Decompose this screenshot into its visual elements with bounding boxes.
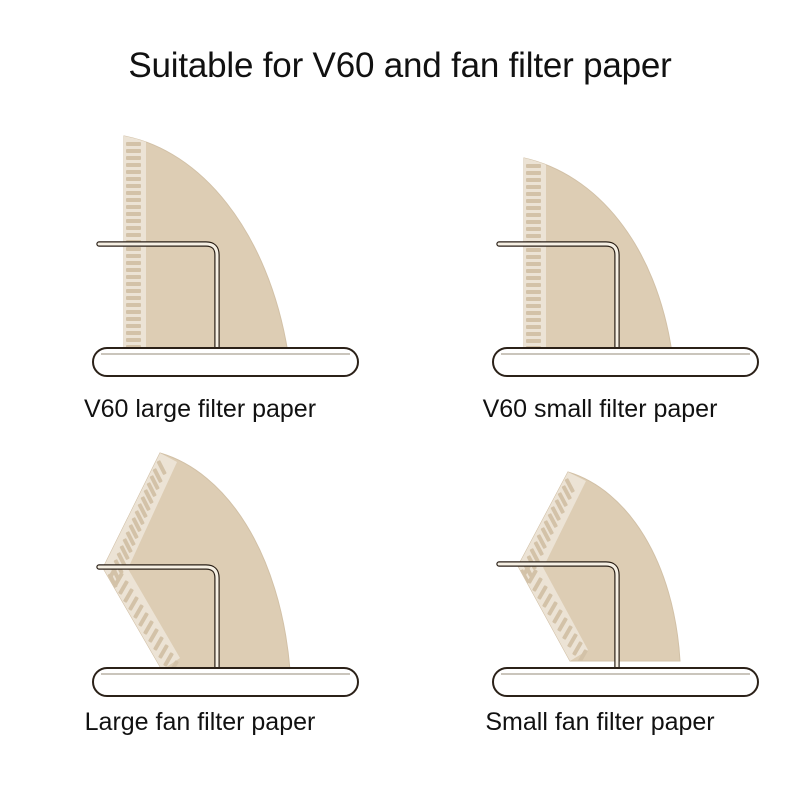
v60-large-illustration (0, 110, 400, 400)
diagram-fan-small: Small fan filter paper (400, 440, 800, 770)
diagram-page: Suitable for V60 and fan filter paper (0, 0, 800, 800)
fan-small-illustration (400, 440, 800, 730)
page-title: Suitable for V60 and fan filter paper (0, 46, 800, 86)
stand-base (93, 668, 358, 696)
fan-large-illustration (0, 440, 400, 730)
diagram-v60-small: V60 small filter paper (400, 110, 800, 440)
diagram-v60-large: V60 large filter paper (0, 110, 400, 440)
caption-fan-large: Large fan filter paper (0, 708, 400, 737)
stand-base (93, 348, 358, 376)
caption-v60-small: V60 small filter paper (400, 395, 800, 424)
stand-base (493, 348, 758, 376)
caption-fan-small: Small fan filter paper (400, 708, 800, 737)
caption-v60-large: V60 large filter paper (0, 395, 400, 424)
stand-base (493, 668, 758, 696)
filter-paper-body (524, 158, 672, 353)
v60-small-illustration (400, 110, 800, 400)
diagram-fan-large: Large fan filter paper (0, 440, 400, 770)
